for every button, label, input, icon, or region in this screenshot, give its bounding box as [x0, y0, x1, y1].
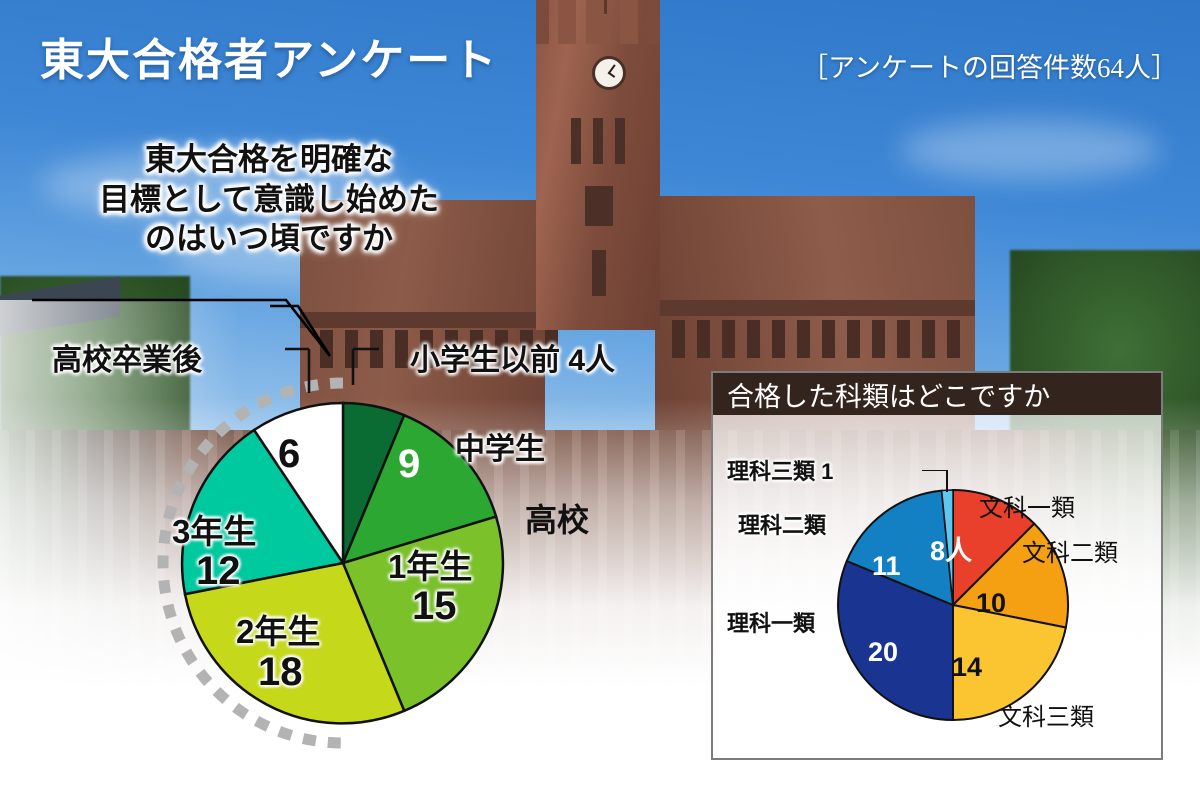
label-rika2: 理科二類 — [738, 508, 826, 540]
value-after-highschool: 6 — [278, 432, 300, 477]
value-grade1: 15 — [412, 584, 457, 629]
value-grade3: 12 — [196, 549, 241, 594]
respondent-count-note: ［アンケートの回答件数64人］ — [801, 46, 1178, 85]
question-callout: 東大合格を明確な 目標として意識し始めた のはいつ頃ですか — [44, 140, 494, 259]
value-rika1: 20 — [868, 637, 898, 668]
tower-window — [615, 118, 625, 164]
infographic-root: 東大合格者アンケート ［アンケートの回答件数64人］ 東大合格を明確な 目標とし… — [0, 0, 1200, 800]
tower-crenellation — [536, 0, 660, 44]
label-grade3: 3年生 — [172, 505, 256, 553]
label-grade1: 1年生 — [388, 540, 472, 588]
faculty-panel-heading: 合格した科類はどこですか — [713, 373, 1161, 415]
tower-window — [592, 250, 606, 296]
tower-window — [593, 118, 603, 164]
label-junior-high: 中学生 — [455, 424, 545, 468]
window-row-right — [672, 320, 960, 358]
question-line-2: 目標として意識し始めた — [44, 180, 494, 220]
value-rika2: 11 — [872, 551, 901, 582]
tower-spire — [604, 0, 607, 14]
question-line-1: 東大合格を明確な — [44, 140, 494, 180]
value-bunka2: 10 — [976, 588, 1006, 619]
label-grade2: 2年生 — [236, 605, 320, 653]
value-bunka3: 14 — [952, 652, 982, 683]
value-grade2: 18 — [258, 650, 303, 695]
tower-window — [571, 118, 581, 164]
label-rika3: 理科三類 1 — [727, 454, 833, 486]
label-rika1: 理科一類 — [727, 606, 815, 638]
label-bunka3: 文科三類 — [998, 697, 1094, 732]
clock-face-icon — [592, 56, 626, 90]
value-junior-high: 9 — [398, 442, 420, 487]
question-line-3: のはいつ頃ですか — [44, 219, 494, 259]
cloud-wisp — [900, 120, 1160, 180]
value-bunka1: 8人 — [930, 529, 972, 568]
page-title: 東大合格者アンケート — [40, 24, 498, 88]
pie-2-slices — [838, 490, 1068, 720]
tower-window — [585, 186, 613, 226]
label-bunka2: 文科二類 — [1022, 533, 1118, 568]
cornice-right — [655, 300, 975, 316]
label-before-elementary: 小学生以前 4人 — [410, 335, 615, 379]
label-after-highschool: 高校卒業後 — [52, 335, 202, 379]
label-bunka1: 文科一類 — [979, 488, 1075, 523]
label-high-school-bracket: 高校 — [525, 495, 589, 541]
pie-chart-timing — [103, 343, 583, 783]
